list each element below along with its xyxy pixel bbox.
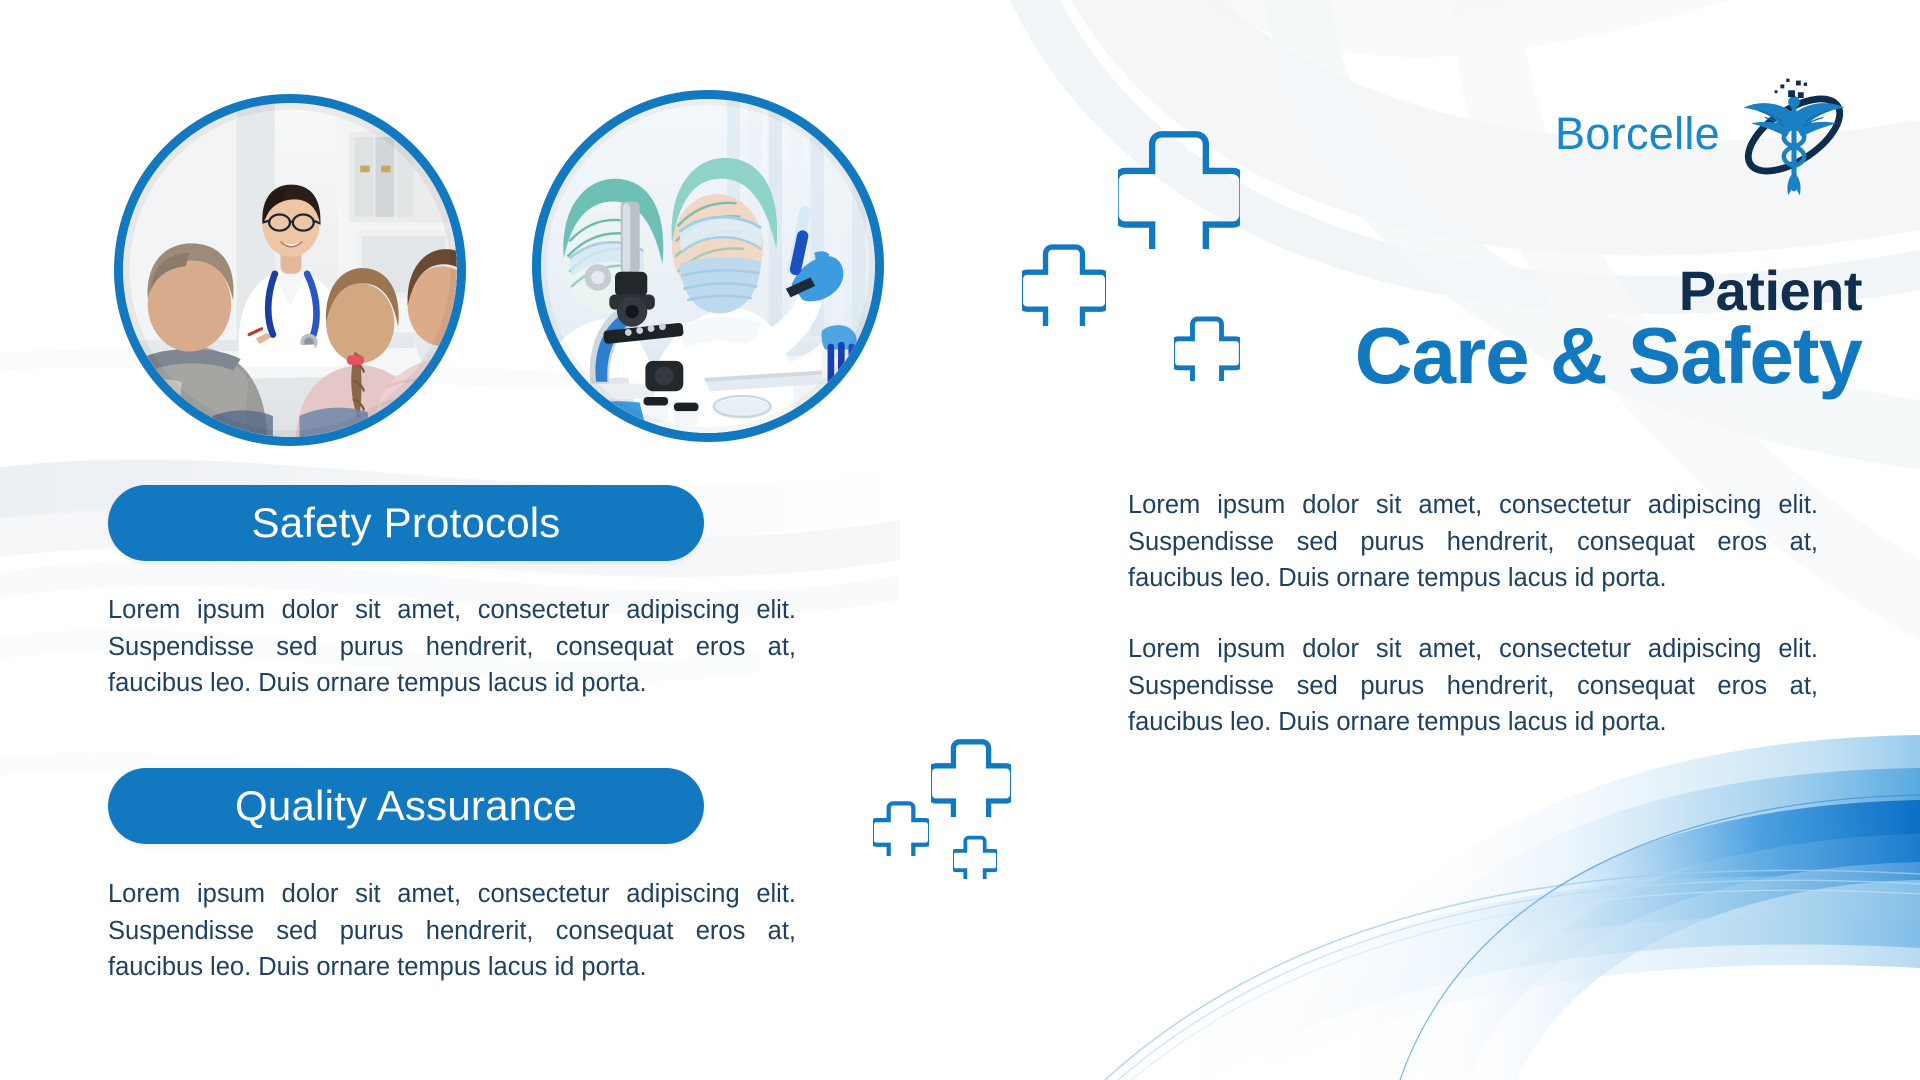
- photo-gallery: [108, 62, 888, 432]
- section-heading-safety-protocols[interactable]: Safety Protocols: [108, 485, 704, 561]
- right-paragraph-2: Lorem ipsum dolor sit amet, consectetur …: [1128, 631, 1818, 741]
- doctor-consultation-photo: [123, 103, 457, 437]
- caduceus-logo-icon: [1726, 67, 1862, 203]
- photo-circle-consultation[interactable]: [114, 94, 466, 446]
- pill-label: Quality Assurance: [235, 785, 577, 827]
- section-heading-quality-assurance[interactable]: Quality Assurance: [108, 768, 704, 844]
- page-title: Patient Care & Safety: [1355, 262, 1862, 398]
- slide-canvas: Safety Protocols Lorem ipsum dolor sit a…: [0, 0, 1920, 1080]
- pill-label: Safety Protocols: [251, 502, 560, 544]
- section-body-safety-protocols: Lorem ipsum dolor sit amet, consectetur …: [108, 592, 796, 702]
- brand-name: Borcelle: [1555, 111, 1720, 160]
- photo-circle-laboratory[interactable]: [532, 90, 884, 442]
- left-content-column: Safety Protocols Lorem ipsum dolor sit a…: [0, 0, 900, 1080]
- brand-lockup[interactable]: Borcelle: [1555, 70, 1862, 200]
- laboratory-research-photo: [541, 99, 875, 433]
- right-content-column: Borcelle: [900, 0, 1920, 1080]
- section-body-quality-assurance: Lorem ipsum dolor sit amet, consectetur …: [108, 876, 796, 986]
- title-main: Care & Safety: [1355, 315, 1862, 397]
- right-paragraph-1: Lorem ipsum dolor sit amet, consectetur …: [1128, 487, 1818, 597]
